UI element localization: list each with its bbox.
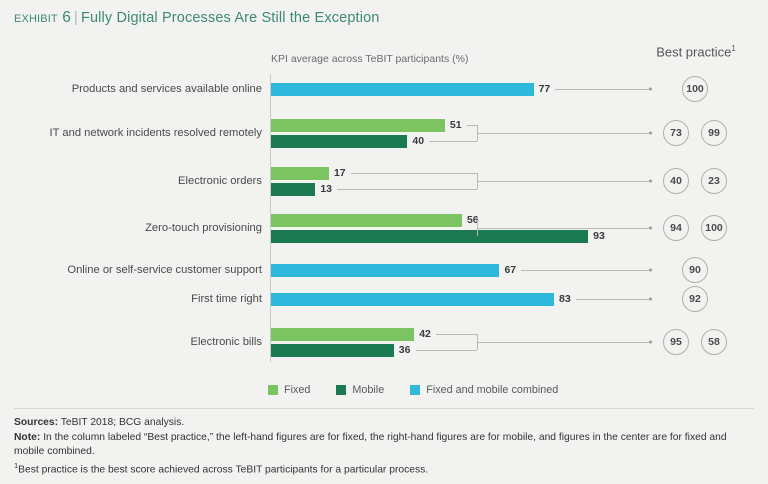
connector-dot [649, 269, 652, 272]
best-practice-circle-combined: 90 [682, 257, 708, 283]
connector-line [576, 299, 649, 300]
best-practice-circle-mobile: 23 [701, 168, 727, 194]
legend-swatch-icon [410, 385, 420, 395]
bar-mobile [271, 183, 315, 196]
category-label: First time right [7, 293, 262, 305]
legend-swatch-icon [268, 385, 278, 395]
connector-line-to-circle [477, 342, 649, 343]
best-practice-circle-mobile: 99 [701, 120, 727, 146]
connector-line-to-circle [477, 228, 649, 229]
footer-footnote-text: Best practice is the best score achieved… [18, 464, 428, 475]
legend-item: Fixed [268, 384, 310, 396]
exhibit-title: Exhibit 6|Fully Digital Processes Are St… [14, 9, 380, 27]
footer-sources-text: TeBIT 2018; BCG analysis. [61, 417, 184, 428]
connector-line-upper [467, 125, 477, 126]
category-label: Products and services available online [7, 83, 262, 95]
best-practice-circle-mobile: 100 [701, 215, 727, 241]
bar-mobile [271, 344, 394, 357]
footer-sources-label: Sources: [14, 417, 58, 428]
connector-line-lower [416, 350, 477, 351]
category-label: Electronic bills [7, 336, 262, 348]
footer-note: Note: In the column labeled “Best practi… [14, 431, 756, 459]
kpi-axis-title: KPI average across TeBIT participants (%… [271, 53, 468, 65]
legend-item: Mobile [336, 384, 384, 396]
bar-value-label: 40 [412, 135, 424, 147]
bar-fixed [271, 328, 414, 341]
connector-line-lower [337, 189, 477, 190]
legend-item-label: Fixed [284, 384, 310, 396]
best-practice-header-footnote-marker: 1 [731, 44, 735, 53]
bar-value-label: 51 [450, 119, 462, 131]
footer-divider [14, 408, 754, 409]
footer-note-text: In the column labeled “Best practice,” t… [14, 432, 727, 457]
category-label: Zero-touch provisioning [7, 222, 262, 234]
bar-fixed-and-mobile-combined [271, 293, 554, 306]
bar-value-label: 17 [334, 167, 346, 179]
legend-item-label: Mobile [352, 384, 384, 396]
footer-notes: Sources: TeBIT 2018; BCG analysis. Note:… [14, 416, 756, 478]
category-label: Electronic orders [7, 175, 262, 187]
title-separator: | [71, 10, 81, 26]
legend-swatch-icon [336, 385, 346, 395]
bar-value-label: 13 [320, 183, 332, 195]
bar-value-label: 77 [539, 83, 551, 95]
chart-legend: FixedMobileFixed and mobile combined [268, 384, 558, 396]
best-practice-circle-fixed: 94 [663, 215, 689, 241]
connector-dot [649, 298, 652, 301]
bar-fixed [271, 167, 329, 180]
connector-line-to-circle [477, 181, 649, 182]
bar-value-label: 36 [399, 344, 411, 356]
best-practice-circle-fixed: 40 [663, 168, 689, 194]
legend-item: Fixed and mobile combined [410, 384, 558, 396]
best-practice-circle-fixed: 95 [663, 329, 689, 355]
bar-value-label: 42 [419, 328, 431, 340]
connector-line [521, 270, 649, 271]
best-practice-circle-mobile: 58 [701, 329, 727, 355]
connector-dot [649, 88, 652, 91]
footer-note-label: Note: [14, 432, 40, 443]
bar-value-label: 67 [504, 264, 516, 276]
bar-fixed-and-mobile-combined [271, 264, 499, 277]
bar-fixed [271, 119, 445, 132]
category-label: IT and network incidents resolved remote… [7, 127, 262, 139]
best-practice-header: Best practice1 [636, 44, 756, 59]
category-label: Online or self-service customer support [7, 264, 262, 276]
chart-plot-area: Products and services available online77… [0, 70, 768, 370]
connector-line-to-circle [477, 133, 649, 134]
bar-mobile [271, 230, 588, 243]
connector-dot [649, 341, 652, 344]
best-practice-circle-fixed: 73 [663, 120, 689, 146]
bar-fixed-and-mobile-combined [271, 83, 534, 96]
bar-mobile [271, 135, 407, 148]
bar-value-label: 83 [559, 293, 571, 305]
connector-dot [649, 132, 652, 135]
bar-fixed [271, 214, 462, 227]
connector-line-lower [429, 141, 477, 142]
connector-line-upper [351, 173, 477, 174]
best-practice-header-label: Best practice [656, 44, 731, 59]
exhibit-number: Exhibit 6 [14, 9, 71, 26]
connector-dot [649, 227, 652, 230]
legend-item-label: Fixed and mobile combined [426, 384, 558, 396]
title-headline: Fully Digital Processes Are Still the Ex… [81, 10, 380, 26]
footer-footnote: 1Best practice is the best score achieve… [14, 461, 756, 478]
best-practice-circle-combined: 100 [682, 76, 708, 102]
connector-line-upper [436, 334, 477, 335]
footer-sources: Sources: TeBIT 2018; BCG analysis. [14, 416, 756, 430]
connector-dot [649, 180, 652, 183]
best-practice-circle-combined: 92 [682, 286, 708, 312]
connector-line [555, 89, 649, 90]
bar-value-label: 93 [593, 230, 605, 242]
